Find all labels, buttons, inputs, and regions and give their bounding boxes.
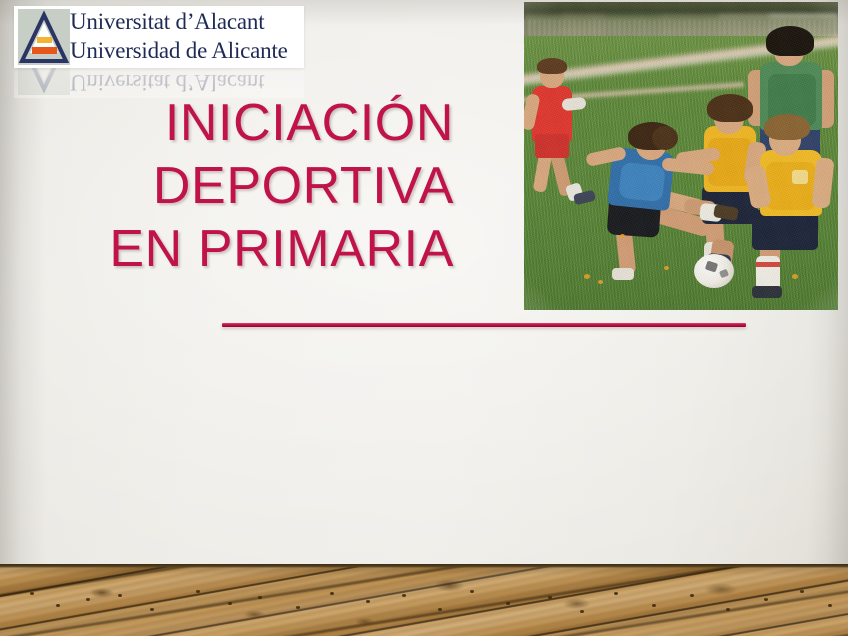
photo-child-yellow2-shoe-left	[752, 286, 782, 298]
wall-left-shadow	[0, 0, 46, 566]
title-line-1: INICIACIÓN	[40, 92, 454, 155]
photo-child-blue-standing-shoe	[612, 268, 634, 280]
photo-child-red-hair	[537, 58, 567, 74]
photo-child-yellow2-hair	[764, 114, 810, 140]
photo-child-red-shirt-lower	[535, 134, 569, 158]
slide-title[interactable]: INICIACIÓN DEPORTIVA EN PRIMARIA	[40, 92, 454, 281]
logo-line-1: Universitat d’Alacant	[70, 7, 302, 36]
photo-grass-flower	[598, 280, 603, 284]
photo-grass-flower	[584, 274, 590, 279]
photo-grass-flower	[664, 266, 669, 270]
photo-child-blue-hair-highlight	[652, 126, 678, 150]
photo-child-green-hair	[766, 26, 814, 56]
photo-grass-flower	[792, 274, 798, 279]
university-logo[interactable]: Universitat d’Alacant Universidad de Ali…	[14, 6, 304, 68]
title-line-2: DEPORTIVA	[40, 155, 454, 218]
logo-wordmark: Universitat d’Alacant Universidad de Ali…	[70, 7, 302, 67]
wooden-floor	[0, 564, 848, 636]
photo-child-blue-shirt-highlight	[618, 162, 666, 202]
logo-line-2: Universidad de Alicante	[70, 36, 302, 65]
presentation-slide: Universitat d’Alacant Universidad de Ali…	[0, 0, 848, 636]
alicante-mountain-icon	[18, 9, 70, 65]
photo-child-yellow2-sock-stripe	[756, 262, 780, 267]
photo-grass-flower	[620, 234, 625, 238]
photo-child-yellow1-hair	[707, 94, 753, 122]
title-underline-rule	[222, 323, 746, 327]
photo-child-yellow2-shirt-emblem	[792, 170, 808, 184]
photo-child-yellow2-shorts	[752, 210, 818, 250]
soccer-children-photo[interactable]	[524, 2, 838, 310]
photo-child-yellow2-shirt-shade	[766, 162, 816, 210]
floor-baseboard-shadow	[0, 564, 848, 568]
photo-frame	[524, 2, 838, 310]
floor-knots	[0, 564, 848, 636]
title-line-3: EN PRIMARIA	[40, 218, 454, 281]
